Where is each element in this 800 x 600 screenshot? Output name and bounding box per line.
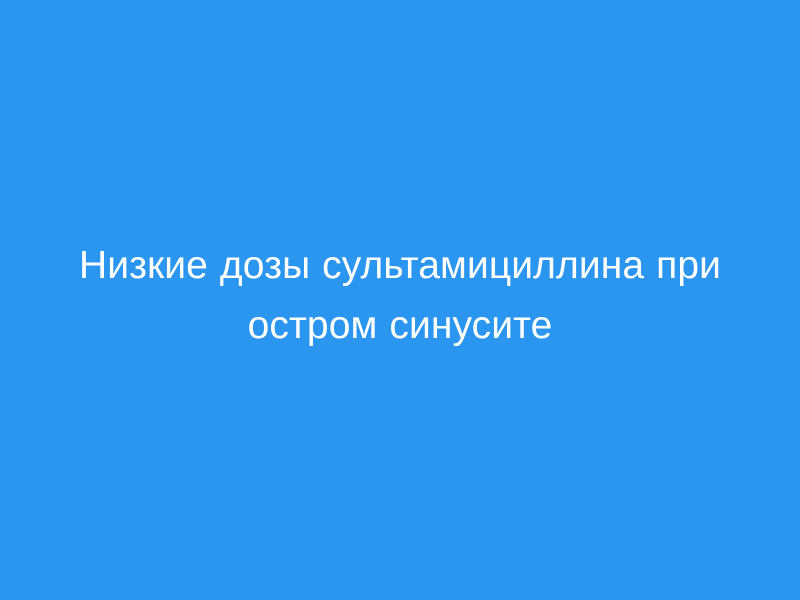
title-block: Низкие дозы сультамициллина при остром с…	[50, 236, 750, 356]
page-title: Низкие дозы сультамициллина при остром с…	[50, 236, 750, 356]
title-card: Низкие дозы сультамициллина при остром с…	[0, 0, 800, 600]
